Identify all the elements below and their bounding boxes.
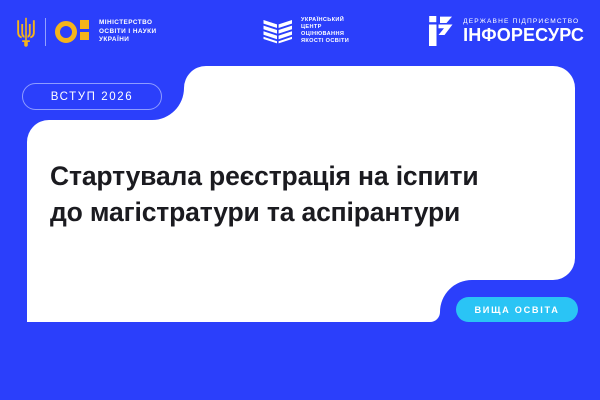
logo-uceqe-line-1: УКРАЇНСЬКИЙ: [301, 17, 349, 24]
logo-inforesurs[interactable]: ДЕРЖАВНЕ ПІДПРИЄМСТВО ІНФОРЕСУРС: [428, 13, 584, 49]
logo-uceqe-line-4: ЯКОСТІ ОСВІТИ: [301, 38, 349, 45]
headline-line-2: до магістратури та аспірантури: [50, 194, 530, 230]
logo-uceqe-text: УКРАЇНСЬКИЙ ЦЕНТР ОЦІНЮВАННЯ ЯКОСТІ ОСВІ…: [301, 17, 349, 46]
logo-uceqe[interactable]: УКРАЇНСЬКИЙ ЦЕНТР ОЦІНЮВАННЯ ЯКОСТІ ОСВІ…: [262, 15, 349, 47]
announcement-banner: МІНІСТЕРСТВО ОСВІТИ І НАУКИ УКРАЇНИ: [0, 0, 600, 400]
inforesurs-arrow-icon: [428, 15, 454, 47]
logo-ministry-text: МІНІСТЕРСТВО ОСВІТИ І НАУКИ УКРАЇНИ: [99, 19, 157, 45]
page-title: Стартувала реєстрація на іспити до магіс…: [50, 158, 530, 230]
logo-divider: [45, 18, 46, 46]
logo-inforesurs-title: ІНФОРЕСУРС: [463, 26, 584, 45]
logo-uceqe-line-3: ОЦІНЮВАННЯ: [301, 31, 349, 38]
logo-ministry-line-2: ОСВІТИ І НАУКИ: [99, 28, 157, 37]
headline-line-1: Стартувала реєстрація на іспити: [50, 158, 530, 194]
badge-vstup-2026[interactable]: ВСТУП 2026: [22, 83, 162, 110]
logo-ministry-of-education[interactable]: МІНІСТЕРСТВО ОСВІТИ І НАУКИ УКРАЇНИ: [16, 14, 157, 50]
ukraine-trident-icon: [16, 17, 36, 47]
mon-ring-squares-icon: [55, 17, 91, 47]
logo-ministry-line-1: МІНІСТЕРСТВО: [99, 19, 157, 28]
open-book-chevrons-icon: [262, 17, 294, 45]
badge-vyshcha-osvita[interactable]: ВИЩА ОСВІТА: [456, 297, 578, 322]
logo-bar: МІНІСТЕРСТВО ОСВІТИ І НАУКИ УКРАЇНИ: [0, 0, 600, 62]
logo-inforesurs-text: ДЕРЖАВНЕ ПІДПРИЄМСТВО ІНФОРЕСУРС: [463, 17, 584, 45]
logo-ministry-line-3: УКРАЇНИ: [99, 36, 157, 45]
logo-uceqe-line-2: ЦЕНТР: [301, 24, 349, 31]
